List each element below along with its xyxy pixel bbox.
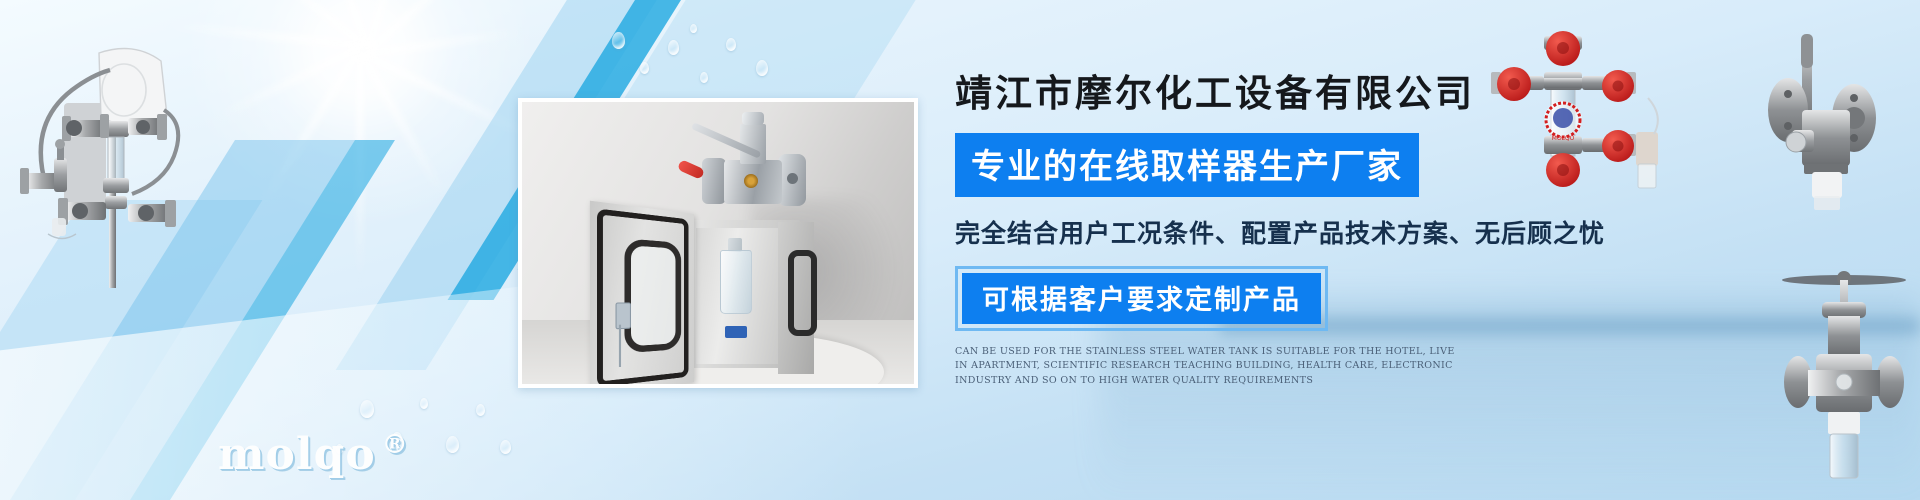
water-drop-icon [476,404,485,416]
tagline-sub: 完全结合用户工况条件、配置产品技术方案、无后顾之忧 [955,214,1735,250]
company-title: 靖江市摩尔化工设备有限公司 [955,72,1735,115]
water-drop-icon [690,24,697,33]
right-top-valve-image [1768,18,1918,218]
right-bottom-valve-image [1772,266,1920,492]
water-drop-icon [640,62,649,74]
registered-mark-icon: ® [382,430,409,460]
watermark-logo: molqo® [218,429,409,480]
water-drop-icon [612,32,625,49]
left-equipment-image [4,18,204,288]
text-block: 靖江市摩尔化工设备有限公司 专业的在线取样器生产厂家 完全结合用户工况条件、配置… [955,72,1735,389]
english-description: CAN BE USED FOR THE STAINLESS STEEL WATE… [955,345,1465,389]
promo-banner: MOLQO 靖江市摩尔化工设备有限公司 专业的在线取样器生产厂家 [0,0,1920,500]
watermark-text: molqo [218,429,376,480]
tagline-box-label: 可根据客户要求定制产品 [962,273,1321,324]
water-drop-icon [446,436,459,453]
custom-product-callout: 可根据客户要求定制产品 [955,266,1328,331]
sunburst-icon [160,0,560,250]
water-drop-icon [700,72,708,83]
water-drop-icon [500,440,511,454]
tagline-main: 专业的在线取样器生产厂家 [955,133,1419,197]
water-drop-icon [726,38,736,51]
valve-assembly [700,112,820,224]
center-product-photo [518,98,918,388]
water-drop-icon [756,60,768,76]
water-drop-icon [420,398,428,409]
water-drop-icon [360,400,374,418]
water-drop-icon [668,40,679,55]
